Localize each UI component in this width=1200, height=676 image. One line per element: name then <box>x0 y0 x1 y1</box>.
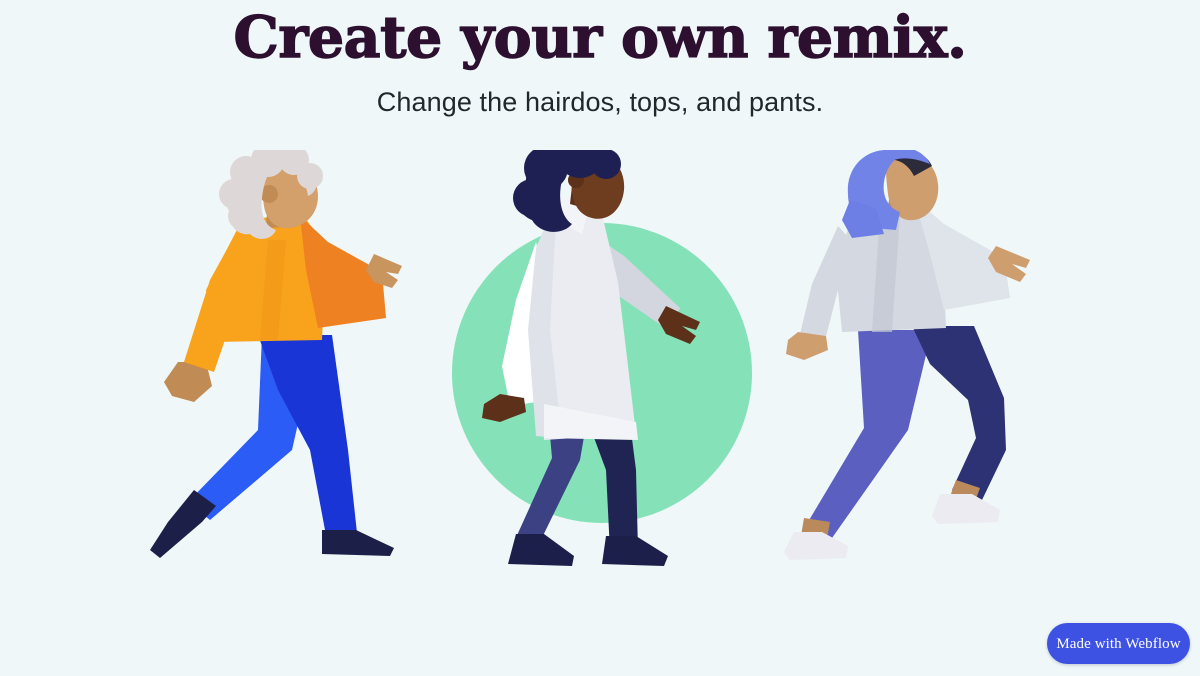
made-with-webflow-badge[interactable]: Made with Webflow <box>1047 623 1190 664</box>
back-hand-shape <box>786 332 828 360</box>
back-leg-shape <box>802 330 932 538</box>
illustration-stage <box>0 150 1200 610</box>
front-shoe-shape <box>322 530 394 556</box>
front-sneaker-shape <box>932 494 1000 524</box>
figure-walking-labcoat <box>440 150 770 590</box>
hair-bun-4-shape <box>591 150 621 179</box>
back-shoe-shape <box>508 534 574 566</box>
back-sneaker-shape <box>784 532 848 560</box>
page-subtitle: Change the hairdos, tops, and pants. <box>0 84 1200 120</box>
made-with-webflow-label: Made with Webflow <box>1056 635 1180 653</box>
front-leg-shape <box>912 326 1006 500</box>
back-shoe-shape <box>150 490 216 558</box>
hair-curl-6-shape <box>297 163 323 189</box>
header: Create your own remix. Change the hairdo… <box>0 0 1200 120</box>
page-title: Create your own remix. <box>0 4 1200 72</box>
figure-walking-orange <box>150 150 420 590</box>
front-shoe-shape <box>602 536 668 566</box>
hair-bun-2-shape <box>513 179 551 217</box>
figure-walking-hijab <box>780 150 1070 590</box>
hair-curl-3-shape <box>228 202 256 230</box>
remix-landing-page: Create your own remix. Change the hairdo… <box>0 0 1200 676</box>
